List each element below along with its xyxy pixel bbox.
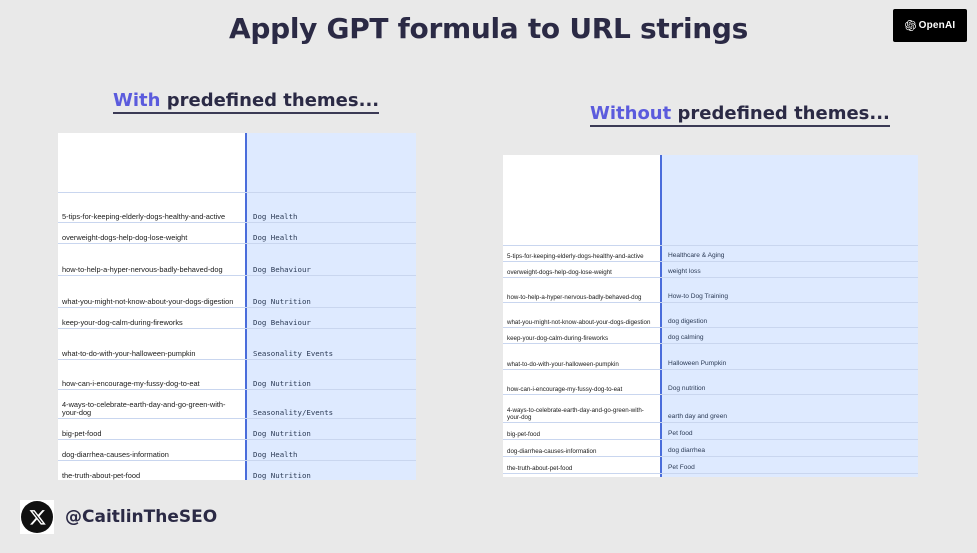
table-row[interactable]: dog-diarrhea-causes-informationdog diarr… <box>503 440 918 457</box>
cell-theme-label[interactable]: dog digestion <box>660 303 918 327</box>
cell-theme-label[interactable]: dog diarrhea <box>660 440 918 456</box>
cell-url-slug[interactable] <box>58 133 245 192</box>
cell-theme-label[interactable] <box>660 474 918 477</box>
cell-url-slug[interactable]: 5-tips-for-keeping-elderly-dogs-healthy-… <box>58 193 245 222</box>
cell-url-slug[interactable] <box>503 155 660 245</box>
footer-social-handle[interactable]: @CaitlinTheSEO <box>20 500 217 534</box>
cell-url-slug[interactable]: what-to-do-with-your-halloween-pumpkin <box>503 344 660 369</box>
x-glyph-icon <box>29 509 46 526</box>
cell-url-slug[interactable]: overweight-dogs-help-dog-lose-weight <box>58 223 245 243</box>
page-title: Apply GPT formula to URL strings <box>0 12 977 45</box>
cell-url-slug[interactable]: 5-tips-for-keeping-elderly-dogs-healthy-… <box>503 246 660 261</box>
cell-theme-label[interactable]: Pet Food <box>660 457 918 473</box>
table-row[interactable]: keep-your-dog-calm-during-fireworksDog B… <box>58 308 416 329</box>
cell-theme-label[interactable]: weight loss <box>660 262 918 277</box>
table-row[interactable]: 5-tips-for-keeping-elderly-dogs-healthy-… <box>58 193 416 223</box>
openai-badge: OpenAI <box>893 9 967 42</box>
heading-without-rest: predefined themes... <box>671 103 890 124</box>
table-row[interactable]: what-to-do-with-your-halloween-pumpkinHa… <box>503 344 918 370</box>
cell-url-slug[interactable]: what-to-do-with-your-halloween-pumpkin <box>58 329 245 359</box>
heading-without-highlight: Without <box>590 103 671 124</box>
cell-url-slug[interactable]: dog-diarrhea-causes-information <box>58 440 245 460</box>
openai-knot-icon <box>905 20 916 31</box>
without-predefined-themes-table[interactable]: 5-tips-for-keeping-elderly-dogs-healthy-… <box>503 155 918 477</box>
table-row[interactable]: overweight-dogs-help-dog-lose-weightweig… <box>503 262 918 278</box>
cell-url-slug[interactable]: what-you-might-not-know-about-your-dogs-… <box>58 276 245 307</box>
table-row[interactable]: what-to-do-with-your-halloween-pumpkinSe… <box>58 329 416 360</box>
table-row[interactable]: keep-your-dog-calm-during-fireworksdog c… <box>503 328 918 344</box>
table-row[interactable] <box>58 133 416 193</box>
heading-with-rest: predefined themes... <box>160 90 379 111</box>
cell-theme-label[interactable]: Dog Nutrition <box>245 461 416 480</box>
cell-url-slug[interactable]: big-pet-food <box>58 419 245 439</box>
heading-with-highlight: With <box>113 90 160 111</box>
heading-without-predefined-themes: Without predefined themes... <box>590 103 890 127</box>
table-row[interactable]: what-you-might-not-know-about-your-dogs-… <box>58 276 416 308</box>
table-row[interactable]: overweight-dogs-help-dog-lose-weightDog … <box>58 223 416 244</box>
table-row[interactable]: the-truth-about-pet-foodDog Nutrition <box>58 461 416 480</box>
cell-theme-label[interactable]: Dog Behaviour <box>245 308 416 328</box>
cell-url-slug[interactable]: overweight-dogs-help-dog-lose-weight <box>503 262 660 277</box>
cell-url-slug[interactable]: what-you-might-not-know-about-your-dogs-… <box>503 303 660 327</box>
table-row[interactable]: how-to-help-a-hyper-nervous-badly-behave… <box>503 278 918 303</box>
table-row[interactable]: big-pet-foodPet food <box>503 423 918 440</box>
table-row[interactable]: how-to-help-a-hyper-nervous-badly-behave… <box>58 244 416 276</box>
cell-theme-label[interactable]: Dog Nutrition <box>245 276 416 307</box>
cell-theme-label[interactable]: earth day and green <box>660 395 918 422</box>
cell-theme-label[interactable]: Seasonality Events <box>245 329 416 359</box>
table-row[interactable]: 4-ways-to-celebrate-earth-day-and-go-gre… <box>58 390 416 419</box>
cell-theme-label[interactable]: Halloween Pumpkin <box>660 344 918 369</box>
cell-theme-label[interactable]: Dog Nutrition <box>245 419 416 439</box>
cell-theme-label[interactable]: Healthcare & Aging <box>660 246 918 261</box>
cell-url-slug[interactable]: keep-your-dog-calm-during-fireworks <box>58 308 245 328</box>
table-row[interactable]: 4-ways-to-celebrate-earth-day-and-go-gre… <box>503 395 918 423</box>
table-row[interactable]: how-can-i-encourage-my-fussy-dog-to-eatD… <box>503 370 918 395</box>
table-row[interactable]: what-you-might-not-know-about-your-dogs-… <box>503 303 918 328</box>
cell-theme-label[interactable]: Dog Health <box>245 440 416 460</box>
cell-url-slug[interactable]: how-can-i-encourage-my-fussy-dog-to-eat <box>58 360 245 389</box>
cell-theme-label[interactable] <box>245 133 416 192</box>
cell-theme-label[interactable]: Seasonality/Events <box>245 390 416 418</box>
table-row[interactable]: 5-tips-for-keeping-elderly-dogs-healthy-… <box>503 246 918 262</box>
cell-url-slug[interactable]: 4-ways-to-celebrate-earth-day-and-go-gre… <box>503 395 660 422</box>
table-row[interactable] <box>503 474 918 477</box>
x-twitter-logo-icon[interactable] <box>20 500 54 534</box>
cell-url-slug[interactable]: the-truth-about-pet-food <box>58 461 245 480</box>
x-logo-disc <box>21 501 53 533</box>
cell-url-slug[interactable]: big-pet-food <box>503 423 660 439</box>
cell-theme-label[interactable]: Pet food <box>660 423 918 439</box>
cell-theme-label[interactable] <box>660 155 918 245</box>
cell-url-slug[interactable]: how-to-help-a-hyper-nervous-badly-behave… <box>503 278 660 302</box>
table-row[interactable]: how-can-i-encourage-my-fussy-dog-to-eatD… <box>58 360 416 390</box>
cell-url-slug[interactable]: how-can-i-encourage-my-fussy-dog-to-eat <box>503 370 660 394</box>
cell-url-slug[interactable]: keep-your-dog-calm-during-fireworks <box>503 328 660 343</box>
table-row[interactable] <box>503 155 918 246</box>
cell-theme-label[interactable]: dog calming <box>660 328 918 343</box>
cell-theme-label[interactable]: Dog Behaviour <box>245 244 416 275</box>
table-row[interactable]: dog-diarrhea-causes-informationDog Healt… <box>58 440 416 461</box>
cell-url-slug[interactable] <box>503 474 660 477</box>
cell-theme-label[interactable]: How-to Dog Training <box>660 278 918 302</box>
cell-url-slug[interactable]: dog-diarrhea-causes-information <box>503 440 660 456</box>
table-row[interactable]: the-truth-about-pet-foodPet Food <box>503 457 918 474</box>
social-handle-text: @CaitlinTheSEO <box>65 507 217 527</box>
cell-theme-label[interactable]: Dog Health <box>245 223 416 243</box>
cell-url-slug[interactable]: the-truth-about-pet-food <box>503 457 660 473</box>
with-predefined-themes-table[interactable]: 5-tips-for-keeping-elderly-dogs-healthy-… <box>58 133 416 480</box>
cell-theme-label[interactable]: Dog Health <box>245 193 416 222</box>
cell-theme-label[interactable]: Dog nutrition <box>660 370 918 394</box>
table-row[interactable]: big-pet-foodDog Nutrition <box>58 419 416 440</box>
heading-with-predefined-themes: With predefined themes... <box>113 90 379 114</box>
cell-theme-label[interactable]: Dog Nutrition <box>245 360 416 389</box>
openai-badge-label: OpenAI <box>919 20 956 31</box>
cell-url-slug[interactable]: 4-ways-to-celebrate-earth-day-and-go-gre… <box>58 390 245 418</box>
cell-url-slug[interactable]: how-to-help-a-hyper-nervous-badly-behave… <box>58 244 245 275</box>
